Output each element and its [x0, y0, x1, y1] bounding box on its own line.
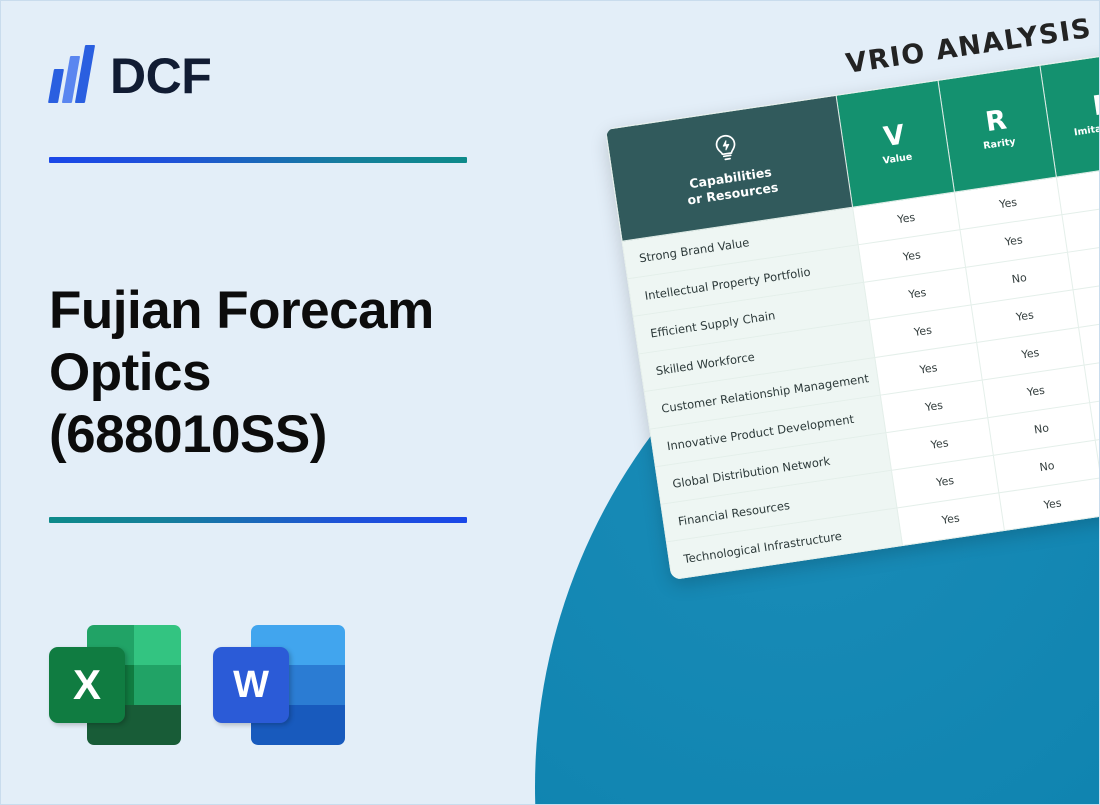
- cover-page: DCF Fujian Forecam Optics (688010SS) X: [0, 0, 1100, 805]
- left-panel: DCF Fujian Forecam Optics (688010SS) X: [1, 1, 521, 805]
- lightbulb-bolt-icon: [709, 130, 743, 166]
- divider-top: [49, 157, 467, 163]
- divider-bottom: [49, 517, 467, 523]
- excel-file-icon[interactable]: X: [49, 621, 181, 749]
- word-file-icon[interactable]: W: [213, 621, 345, 749]
- word-letter: W: [213, 647, 289, 723]
- page-title: Fujian Forecam Optics (688010SS): [49, 280, 499, 466]
- brand-logo[interactable]: DCF: [49, 39, 211, 103]
- imitability-letter: I: [1045, 84, 1100, 129]
- three-bars-icon: [49, 45, 97, 103]
- vrio-table: Capabilities or Resources V Value R: [605, 36, 1100, 581]
- column-header-value: V Value: [836, 80, 954, 207]
- vrio-analysis-card: VRIO ANALYSIS: [605, 36, 1100, 581]
- logo-bar-3: [75, 45, 95, 103]
- column-header-rarity: R Rarity: [938, 65, 1056, 192]
- excel-letter: X: [49, 647, 125, 723]
- vrio-table-card: Capabilities or Resources V Value R: [605, 36, 1100, 581]
- download-formats: X W: [49, 621, 345, 749]
- logo-wordmark: DCF: [110, 51, 211, 103]
